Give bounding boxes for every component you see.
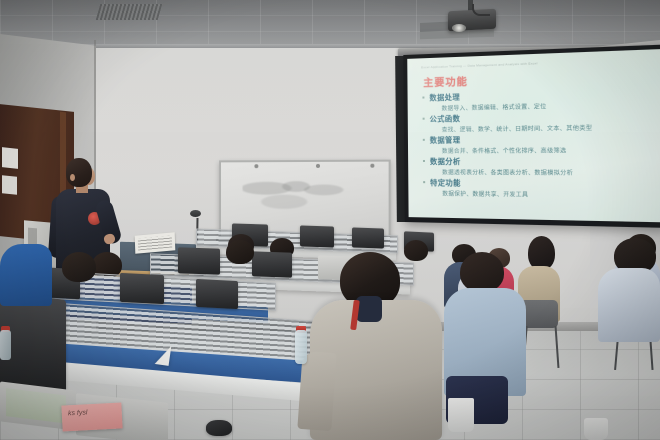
waste-bin	[448, 398, 474, 432]
attendee-body	[598, 268, 660, 342]
lab-monitor	[196, 279, 238, 309]
whiteboard-magnet-icon	[370, 164, 374, 168]
waste-bin	[584, 418, 608, 440]
slide-section-detail: 数据透视表分析、各类图表分析、数据模拟分析	[442, 168, 654, 177]
slide-section-detail: 查找、逻辑、数学、统计、日期时间、文本、其他类型	[442, 122, 654, 133]
slide-bullet-group: 数据处理 数据导入、数据编辑、格式设置、定位 公式函数 查找、逻辑、数学、统计、…	[423, 88, 654, 200]
presenter-head	[66, 158, 92, 187]
slide-section-heading: 数据分析	[430, 157, 654, 168]
presenter-ear	[70, 174, 75, 181]
projector-lens-icon	[452, 24, 466, 32]
blue-backpack	[0, 244, 52, 306]
projection-screen: Excel Application Training — Data Manage…	[403, 45, 660, 228]
lab-monitor	[178, 247, 220, 274]
slide-section-heading: 数据管理	[430, 134, 654, 146]
attendee-head	[460, 252, 504, 292]
attendee-head	[404, 240, 428, 261]
slide-section-detail: 数据合并、条件格式、个性化排序、高级筛选	[442, 145, 654, 154]
slide-section-detail: 数据保护、数据共享、开发工具	[442, 189, 654, 200]
lab-monitor	[352, 227, 384, 248]
folded-paper	[155, 344, 172, 366]
presentation-slide: Excel Application Training — Data Manage…	[407, 49, 660, 222]
wall-notice-paper	[2, 147, 18, 169]
lab-monitor	[120, 273, 164, 304]
water-bottle	[0, 330, 11, 360]
slide-title: 主要功能	[423, 67, 653, 90]
lab-monitor	[300, 225, 334, 247]
attendee-collar	[356, 296, 382, 322]
water-bottle	[295, 330, 307, 364]
computer-mouse	[206, 420, 232, 436]
lab-monitor	[252, 251, 292, 277]
microphone-head-icon	[190, 210, 201, 217]
ceiling-vent-grille	[96, 4, 163, 20]
podium-handout-paper	[135, 232, 176, 253]
photo-scene: Excel Application Training — Data Manage…	[0, 0, 660, 440]
attendee-head	[528, 236, 555, 270]
monitor-screen-content	[6, 388, 66, 423]
whiteboard-erased-marks	[243, 178, 363, 212]
projection-screen-surface: Excel Application Training — Data Manage…	[407, 49, 660, 222]
attendee-head	[62, 252, 96, 282]
whiteboard-magnet-icon	[254, 164, 258, 168]
whiteboard-magnet-icon	[316, 164, 320, 168]
paper-text-lines	[138, 236, 172, 251]
wall-notice-paper	[2, 175, 17, 195]
attendee-head	[226, 240, 254, 264]
projector-cable	[472, 4, 490, 16]
